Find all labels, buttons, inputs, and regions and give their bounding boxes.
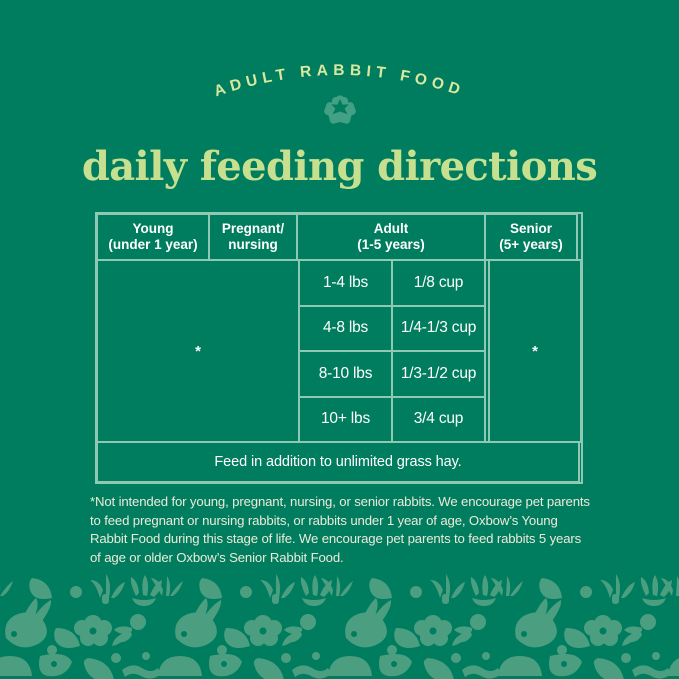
adult-amount-4: 3/4 cup xyxy=(391,396,486,444)
adult-amount-3: 1/3-1/2 cup xyxy=(391,350,486,398)
adult-weight-3: 8-10 lbs xyxy=(298,350,393,398)
table-header-row: Young (under 1 year) Pregnant/ nursing A… xyxy=(97,214,581,260)
column-header-adult-line1: Adult xyxy=(357,221,425,237)
feeding-table: Young (under 1 year) Pregnant/ nursing A… xyxy=(95,212,583,484)
table-row: 10+ lbs 3/4 cup xyxy=(299,397,489,443)
column-header-pregnant-line2: nursing xyxy=(222,237,284,253)
adult-weight-2: 4-8 lbs xyxy=(298,305,393,353)
adult-subtable: 1-4 lbs 1/8 cup 4-8 lbs 1/4-1/3 cup 8-10… xyxy=(299,260,489,442)
adult-amount-2: 1/4-1/3 cup xyxy=(391,305,486,353)
column-header-young: Young (under 1 year) xyxy=(96,213,210,261)
botanical-pattern-band xyxy=(0,570,679,679)
table-row: 8-10 lbs 1/3-1/2 cup xyxy=(299,351,489,397)
adult-weight-4: 10+ lbs xyxy=(298,396,393,444)
column-header-adult-line2: (1-5 years) xyxy=(357,237,425,253)
table-body-row: * 1-4 lbs 1/8 cup 4-8 lbs 1/4-1/3 cup 8-… xyxy=(97,260,581,442)
table-row: 1-4 lbs 1/8 cup xyxy=(299,260,489,306)
column-header-pregnant: Pregnant/ nursing xyxy=(208,213,298,261)
adult-amount-1: 1/8 cup xyxy=(391,259,486,307)
feeding-directions-panel: ADULT RABBIT FOOD daily feeding directio… xyxy=(0,0,679,679)
column-header-senior-line2: (5+ years) xyxy=(499,237,562,253)
column-header-senior-line1: Senior xyxy=(499,221,562,237)
table-row: 4-8 lbs 1/4-1/3 cup xyxy=(299,306,489,352)
cell-young-pregnant-asterisk: * xyxy=(96,259,300,443)
column-header-senior: Senior (5+ years) xyxy=(484,213,578,261)
adult-weight-1: 1-4 lbs xyxy=(298,259,393,307)
column-header-young-line1: Young xyxy=(108,221,197,237)
rosette-flower-icon xyxy=(315,90,365,132)
column-header-pregnant-line1: Pregnant/ xyxy=(222,221,284,237)
column-header-young-line2: (under 1 year) xyxy=(108,237,197,253)
page-title: daily feeding directions xyxy=(0,142,679,192)
disclaimer-text: *Not intended for young, pregnant, nursi… xyxy=(90,493,590,567)
table-footer-note: Feed in addition to unlimited grass hay. xyxy=(96,441,580,483)
column-header-adult: Adult (1-5 years) xyxy=(296,213,486,261)
table-footer-row: Feed in addition to unlimited grass hay. xyxy=(97,442,581,482)
cell-senior-asterisk: * xyxy=(488,259,582,443)
